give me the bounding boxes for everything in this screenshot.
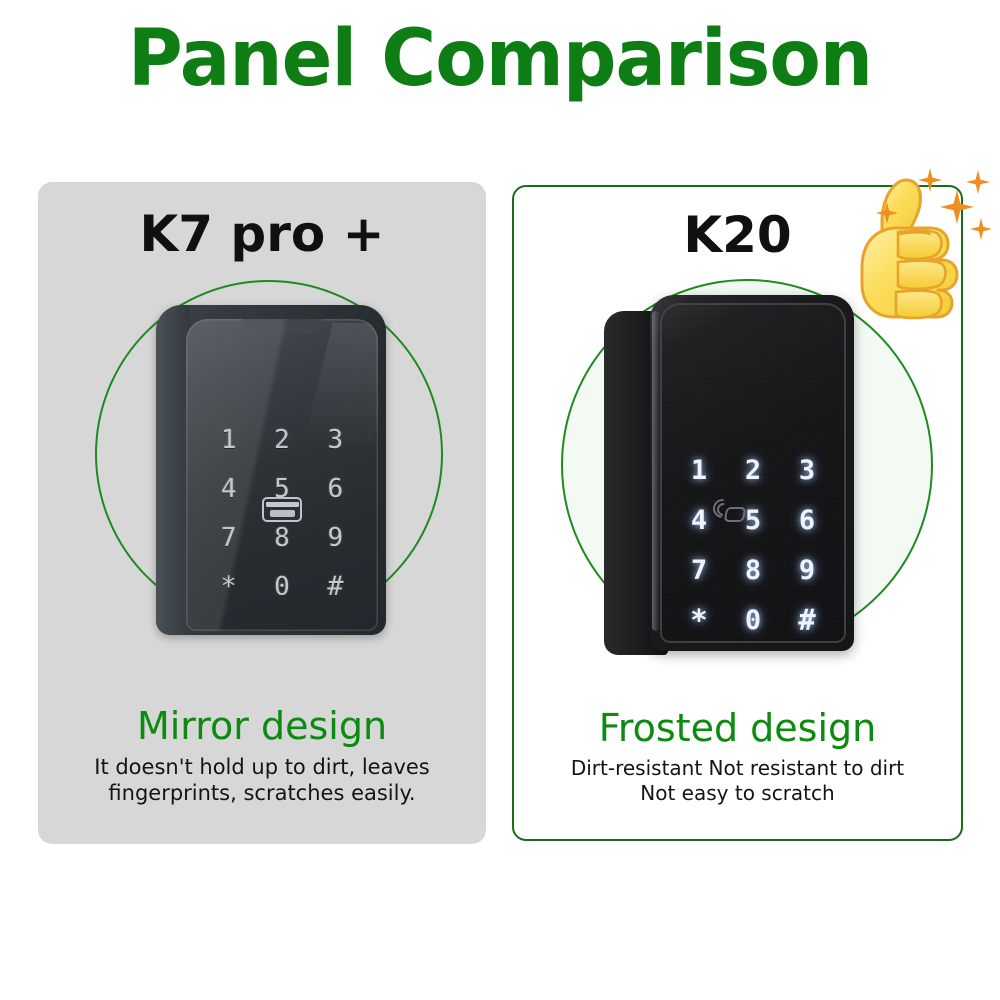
key-6-right: 6: [799, 507, 815, 534]
lock-edge-highlight-icon: [652, 311, 660, 631]
key-4-left: 4: [221, 476, 237, 502]
caption-subtext-right-line1: Dirt-resistant Not resistant to dirt: [514, 756, 961, 781]
caption-subtext-left-line1: It doesn't hold up to dirt, leaves: [38, 754, 486, 780]
panel-comparison-page: Panel Comparison K7 pro + 1 2 3 4 5 6 7 …: [0, 0, 1000, 1000]
key-0-right: 0: [745, 607, 761, 634]
nfc-icon: [713, 498, 745, 522]
smart-lock-device-right: 1 2 3 4 5 6 7 8 9 * 0 #: [604, 295, 854, 655]
key-4-right: 4: [691, 507, 707, 534]
product-card-k7-pro-plus: K7 pro + 1 2 3 4 5 6 7 8 9 *: [38, 182, 486, 844]
page-title: Panel Comparison: [20, 12, 980, 106]
key-star-right: *: [690, 607, 707, 634]
key-2-left: 2: [274, 427, 290, 453]
key-9-right: 9: [799, 557, 815, 584]
nfc-tag-icon: [724, 507, 747, 522]
key-1-left: 1: [221, 427, 237, 453]
card-reader-icon: [262, 497, 302, 522]
smart-lock-device-left: 1 2 3 4 5 6 7 8 9 * 0 #: [156, 305, 386, 635]
key-2-right: 2: [745, 457, 761, 484]
caption-headline-left: Mirror design: [38, 703, 486, 749]
sparkle-icon-5: [970, 218, 992, 240]
sparkle-icon-3: [940, 190, 974, 224]
key-9-left: 9: [327, 525, 343, 551]
key-6-left: 6: [327, 476, 343, 502]
key-star-left: *: [221, 574, 237, 600]
key-hash-right: #: [798, 607, 815, 634]
key-7-right: 7: [691, 557, 707, 584]
key-hash-left: #: [327, 574, 343, 600]
key-8-right: 8: [745, 557, 761, 584]
product-name-left: K7 pro +: [38, 205, 486, 263]
caption-headline-right: Frosted design: [514, 705, 961, 751]
keypad-right: 1 2 3 4 5 6 7 8 9 * 0 #: [672, 445, 834, 645]
caption-subtext-left-line2: fingerprints, scratches easily.: [38, 780, 486, 806]
key-7-left: 7: [221, 525, 237, 551]
key-3-left: 3: [327, 427, 343, 453]
caption-subtext-right-line2: Not easy to scratch: [514, 781, 961, 806]
lock-notch-left: [242, 319, 322, 333]
key-1-right: 1: [691, 457, 707, 484]
lock-glass-panel-left: 1 2 3 4 5 6 7 8 9 * 0 #: [186, 319, 378, 631]
caption-subtext-right: Dirt-resistant Not resistant to dirt Not…: [514, 756, 961, 806]
key-0-left: 0: [274, 574, 290, 600]
key-5-right: 5: [745, 507, 761, 534]
sparkle-icon-2: [918, 168, 942, 192]
card-chip-icon: [270, 510, 295, 517]
card-stripe-icon: [266, 502, 299, 507]
sparkle-icon-1: [876, 202, 898, 224]
key-8-left: 8: [274, 525, 290, 551]
caption-subtext-left: It doesn't hold up to dirt, leaves finge…: [38, 754, 486, 806]
sparkle-icon-4: [966, 170, 990, 194]
key-3-right: 3: [799, 457, 815, 484]
